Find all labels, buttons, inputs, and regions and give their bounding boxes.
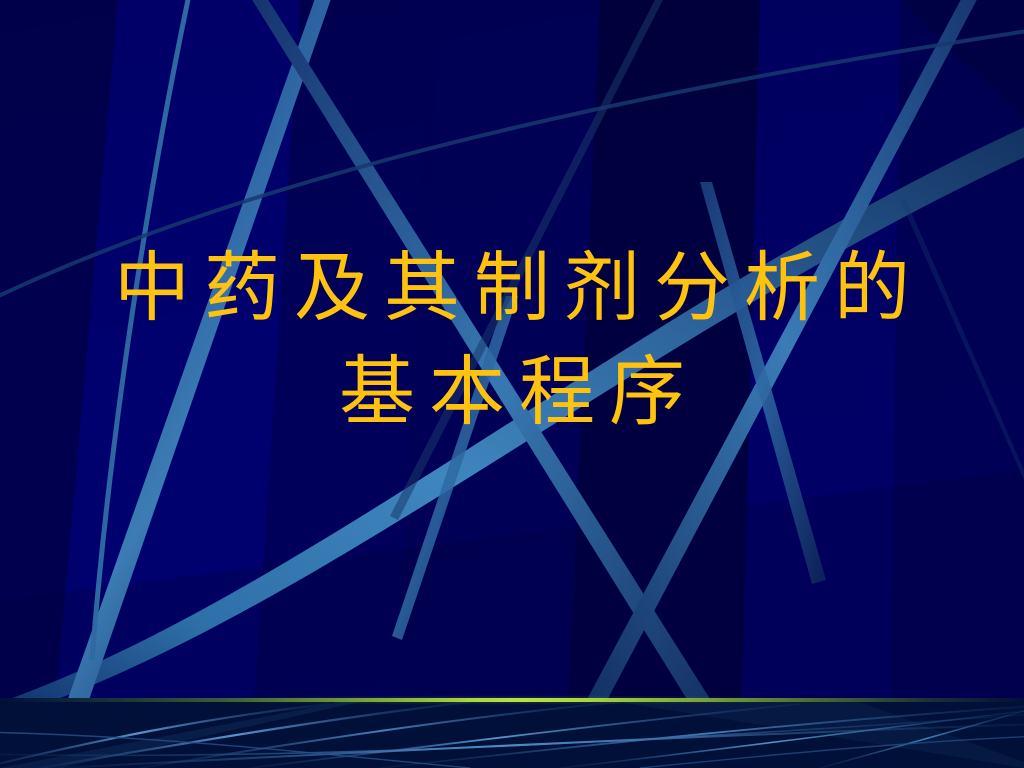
reflection-strip [0,702,1024,768]
reflection-lines [0,702,1024,768]
background-artwork [0,0,1024,768]
slide-canvas: 中药及其制剂分析的 基本程序 [0,0,1024,768]
horizon-divider-line [0,698,1024,702]
